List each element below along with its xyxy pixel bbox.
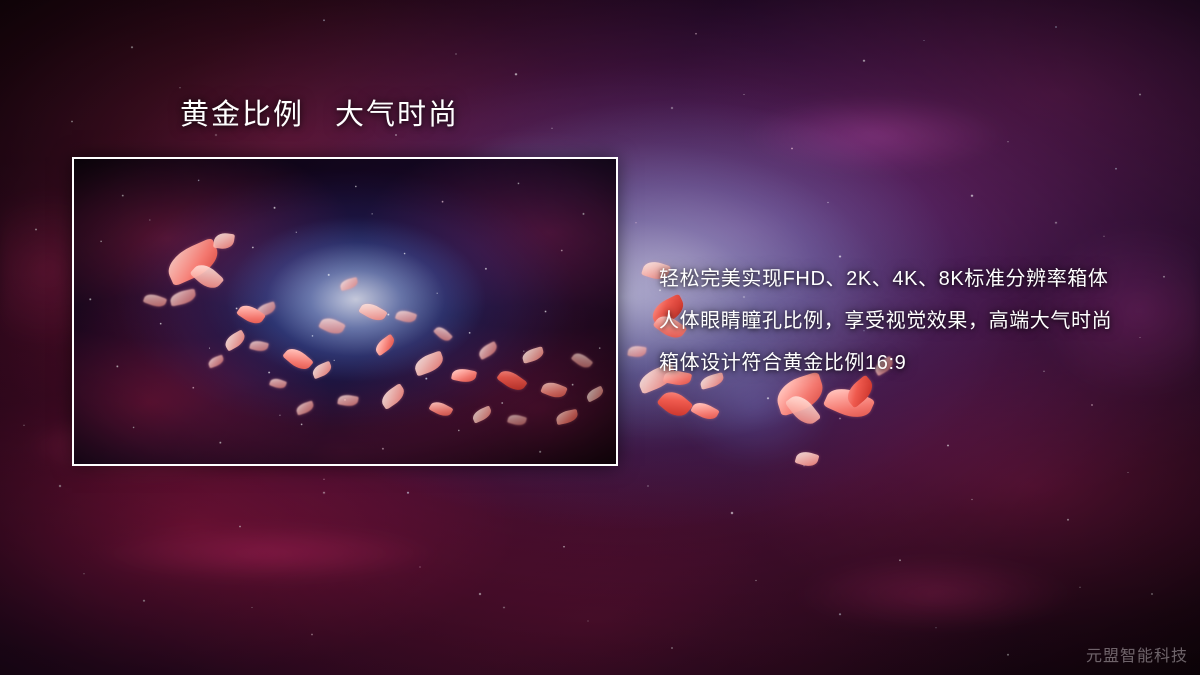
presentation-slide: 黄金比例 大气时尚 轻松完美实现FHD、2K、4K、8K标准分辨率箱体 人体眼睛… xyxy=(0,0,1200,675)
feature-line-2: 人体眼睛瞳孔比例，享受视觉效果，高端大气时尚 xyxy=(659,300,1159,342)
preview-vignette xyxy=(74,159,616,464)
feature-line-3: 箱体设计符合黄金比例16:9 xyxy=(659,342,1159,384)
slide-title: 黄金比例 大气时尚 xyxy=(180,99,459,132)
feature-line-1: 轻松完美实现FHD、2K、4K、8K标准分辨率箱体 xyxy=(659,258,1159,300)
brand-watermark: 元盟智能科技 xyxy=(1086,642,1188,666)
feature-description-block: 轻松完美实现FHD、2K、4K、8K标准分辨率箱体 人体眼睛瞳孔比例，享受视觉效… xyxy=(659,258,1159,384)
golden-ratio-preview-frame xyxy=(72,157,618,466)
